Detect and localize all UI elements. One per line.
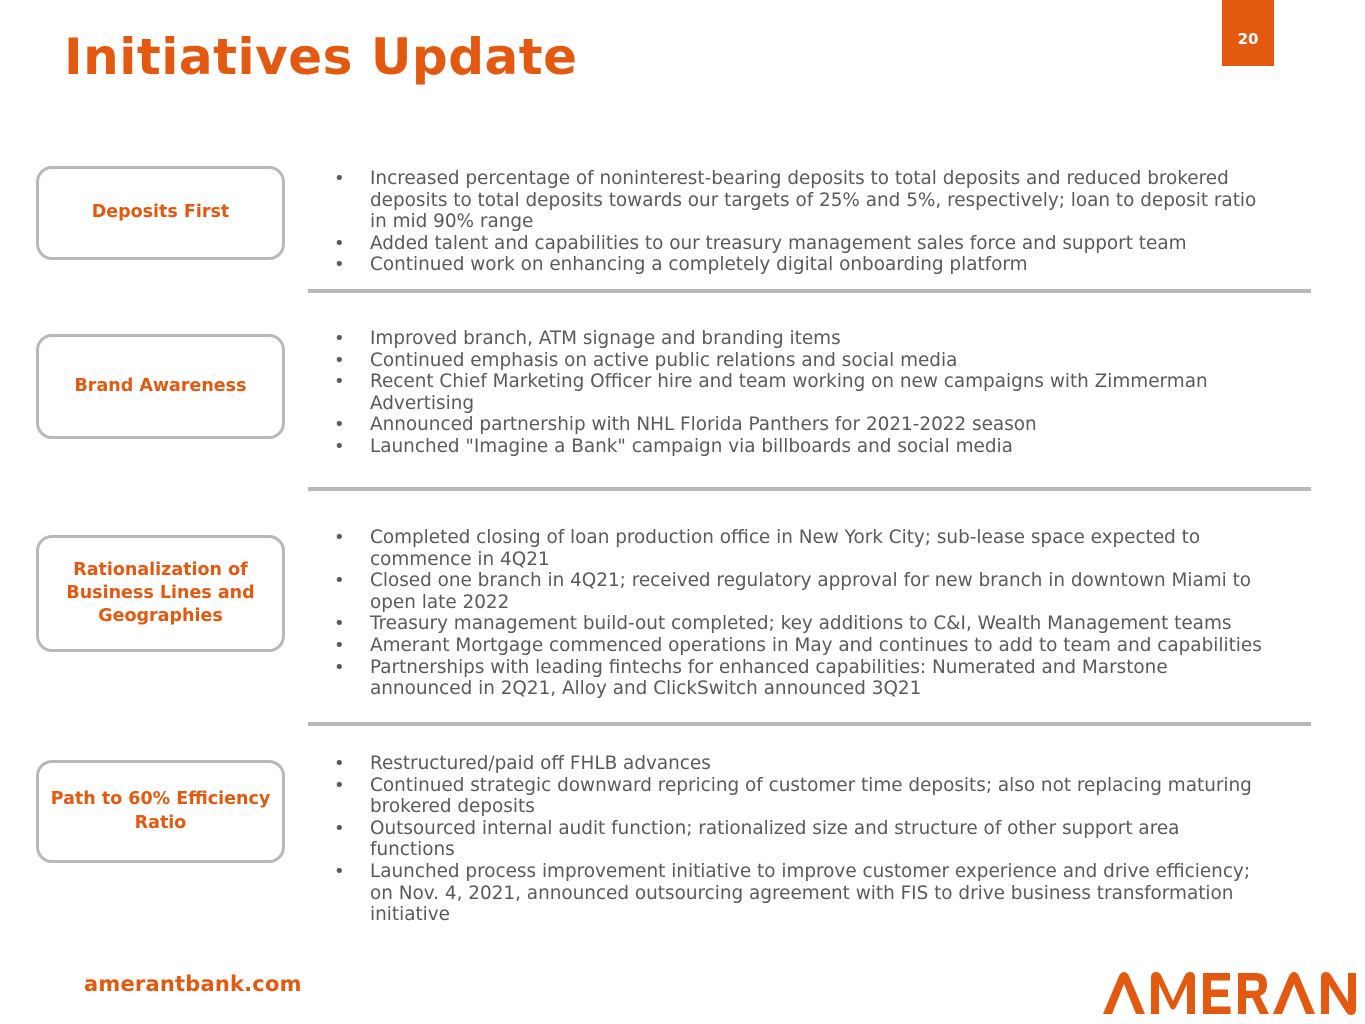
list-item: Treasury management build-out completed;… bbox=[328, 613, 1268, 635]
section-divider bbox=[308, 722, 1311, 726]
list-item: Amerant Mortgage commenced operations in… bbox=[328, 635, 1268, 657]
list-item: Improved branch, ATM signage and brandin… bbox=[328, 328, 1268, 350]
section-label-text: Path to 60% Efficiency Ratio bbox=[39, 784, 282, 838]
list-item: Closed one branch in 4Q21; received regu… bbox=[328, 570, 1268, 613]
list-item: Partnerships with leading fintechs for e… bbox=[328, 657, 1268, 700]
section-divider bbox=[308, 289, 1311, 293]
page-number-label: 20 bbox=[1222, 32, 1274, 47]
section-bullets-deposits-first: Increased percentage of noninterest-bear… bbox=[328, 168, 1268, 276]
list-item: Continued strategic downward repricing o… bbox=[328, 775, 1268, 818]
list-item: Launched process improvement initiative … bbox=[328, 861, 1268, 926]
list-item: Completed closing of loan production off… bbox=[328, 527, 1268, 570]
footer-website[interactable]: amerantbank.com bbox=[84, 972, 302, 996]
list-item: Restructured/paid off FHLB advances bbox=[328, 753, 1268, 775]
list-item: Recent Chief Marketing Officer hire and … bbox=[328, 371, 1268, 414]
amerant-logo bbox=[1097, 966, 1357, 1022]
section-label-text: Deposits First bbox=[82, 197, 240, 228]
list-item: Continued work on enhancing a completely… bbox=[328, 254, 1268, 276]
section-label-text: Rationalization of Business Lines and Ge… bbox=[39, 555, 282, 632]
slide-root: Initiatives Update 20 Deposits First Inc… bbox=[0, 0, 1365, 1024]
section-bullets-rationalization: Completed closing of loan production off… bbox=[328, 527, 1268, 700]
list-item: Added talent and capabilities to our tre… bbox=[328, 233, 1268, 255]
list-item: Increased percentage of noninterest-bear… bbox=[328, 168, 1268, 233]
section-label-box-rationalization: Rationalization of Business Lines and Ge… bbox=[36, 535, 285, 652]
list-item: Outsourced internal audit function; rati… bbox=[328, 818, 1268, 861]
section-bullets-efficiency-ratio: Restructured/paid off FHLB advances Cont… bbox=[328, 753, 1268, 926]
section-label-box-efficiency-ratio: Path to 60% Efficiency Ratio bbox=[36, 760, 285, 863]
section-bullets-brand-awareness: Improved branch, ATM signage and brandin… bbox=[328, 328, 1268, 458]
page-title: Initiatives Update bbox=[64, 30, 578, 85]
list-item: Announced partnership with NHL Florida P… bbox=[328, 414, 1268, 436]
page-number-badge: 20 bbox=[1222, 0, 1274, 66]
section-divider bbox=[308, 487, 1311, 491]
list-item: Launched "Imagine a Bank" campaign via b… bbox=[328, 436, 1268, 458]
section-label-text: Brand Awareness bbox=[64, 371, 256, 402]
section-label-box-deposits-first: Deposits First bbox=[36, 166, 285, 260]
list-item: Continued emphasis on active public rela… bbox=[328, 350, 1268, 372]
section-label-box-brand-awareness: Brand Awareness bbox=[36, 334, 285, 439]
